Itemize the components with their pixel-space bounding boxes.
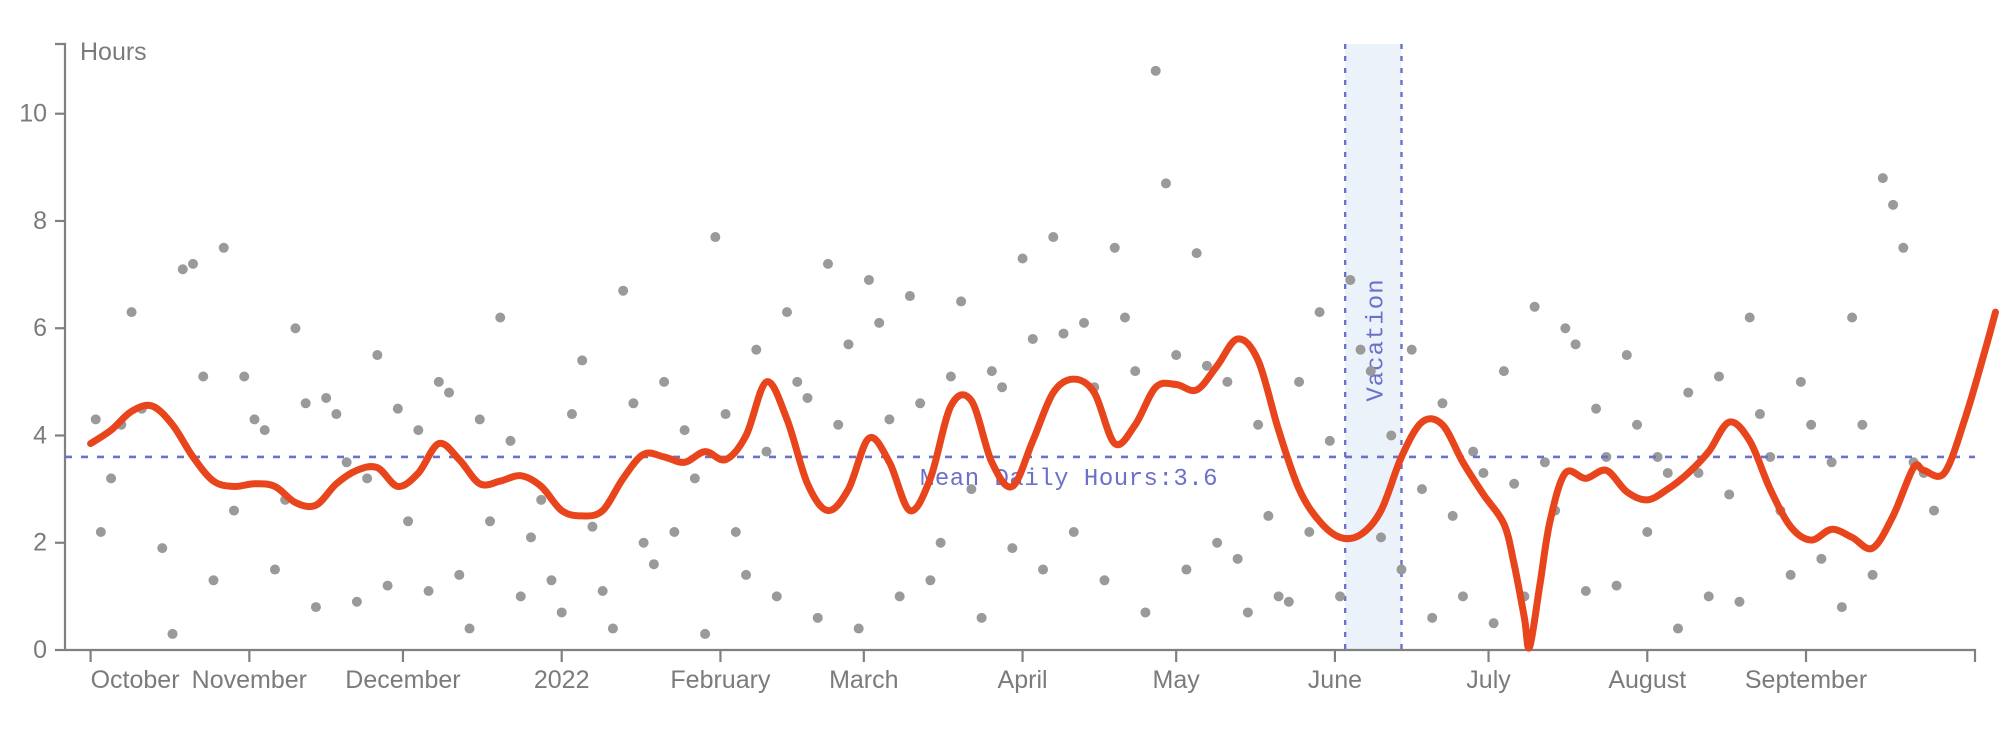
scatter-point (854, 624, 864, 634)
x-tick-label: February (670, 666, 771, 694)
scatter-point (1376, 532, 1386, 542)
scatter-point (1468, 447, 1478, 457)
scatter-point (1366, 366, 1376, 376)
scatter-point (843, 339, 853, 349)
scatter-point (802, 393, 812, 403)
scatter-point (1048, 232, 1058, 242)
scatter-point (1304, 527, 1314, 537)
scatter-point (1253, 420, 1263, 430)
x-tick-label: December (345, 666, 460, 694)
scatter-point (372, 350, 382, 360)
scatter-point (823, 259, 833, 269)
scatter-point (383, 581, 393, 591)
scatter-point (1427, 613, 1437, 623)
scatter-point (1560, 323, 1570, 333)
scatter-point (1110, 243, 1120, 253)
scatter-point (1888, 200, 1898, 210)
mean-line-label: Mean Daily Hours:3.6 (920, 466, 1218, 493)
x-tick-label: 2022 (534, 666, 590, 694)
scatter-point (495, 313, 505, 323)
scatter-point (311, 602, 321, 612)
scatter-point (1212, 538, 1222, 548)
scatter-point (1755, 409, 1765, 419)
scatter-point (628, 398, 638, 408)
scatter-point (454, 570, 464, 580)
scatter-point (1263, 511, 1273, 521)
scatter-point (536, 495, 546, 505)
scatter-point (997, 382, 1007, 392)
scatter-point (925, 575, 935, 585)
scatter-point (1714, 371, 1724, 381)
scatter-point (239, 371, 249, 381)
scatter-point (557, 607, 567, 617)
scatter-point (977, 613, 987, 623)
scatter-point (127, 307, 137, 317)
x-tick-label: April (998, 666, 1048, 694)
scatter-point (680, 425, 690, 435)
scatter-point (208, 575, 218, 585)
scatter-point (1929, 506, 1939, 516)
scatter-point (1335, 591, 1345, 601)
x-axis-line (65, 650, 1975, 662)
scatter-point (1386, 430, 1396, 440)
scatter-point (1591, 404, 1601, 414)
scatter-point (188, 259, 198, 269)
scatter-point (96, 527, 106, 537)
chart-container: Vacation 0246810 Hours OctoberNovemberDe… (0, 0, 2008, 731)
scatter-point (475, 414, 485, 424)
scatter-point (1038, 565, 1048, 575)
scatter-point (1233, 554, 1243, 564)
scatter-point (1284, 597, 1294, 607)
scatter-point (526, 532, 536, 542)
scatter-point (1192, 248, 1202, 258)
scatter-point (1274, 591, 1284, 601)
scatter-point (1837, 602, 1847, 612)
scatter-point (157, 543, 167, 553)
scatter-point (1161, 178, 1171, 188)
scatter-point (731, 527, 741, 537)
scatter-point (567, 409, 577, 419)
scatter-point (1069, 527, 1079, 537)
scatter-point (546, 575, 556, 585)
scatter-point (1683, 388, 1693, 398)
scatter-point (1499, 366, 1509, 376)
scatter-points (91, 66, 1939, 639)
y-axis-line (55, 44, 65, 650)
scatter-point (936, 538, 946, 548)
scatter-point (874, 318, 884, 328)
scatter-point (741, 570, 751, 580)
scatter-point (178, 264, 188, 274)
vacation-band: Vacation (1345, 44, 1401, 650)
scatter-point (1181, 565, 1191, 575)
scatter-point (618, 286, 628, 296)
scatter-point (1540, 457, 1550, 467)
scatter-point (249, 414, 259, 424)
scatter-point (833, 420, 843, 430)
scatter-point (1581, 586, 1591, 596)
x-tick-label: May (1153, 666, 1201, 694)
scatter-point (690, 473, 700, 483)
scatter-point (331, 409, 341, 419)
scatter-point (1294, 377, 1304, 387)
scatter-point (700, 629, 710, 639)
scatter-point (393, 404, 403, 414)
scatter-point (219, 243, 229, 253)
scatter-point (1509, 479, 1519, 489)
scatter-point (710, 232, 720, 242)
scatter-point (1642, 527, 1652, 537)
y-tick-label: 4 (33, 421, 47, 449)
x-axis: OctoberNovemberDecember2022FebruaryMarch… (65, 650, 1975, 694)
scatter-point (1417, 484, 1427, 494)
scatter-point (1059, 329, 1069, 339)
scatter-point (1315, 307, 1325, 317)
scatter-point (1099, 575, 1109, 585)
scatter-point (1028, 334, 1038, 344)
scatter-point (444, 388, 454, 398)
scatter-point (659, 377, 669, 387)
scatter-point (106, 473, 116, 483)
y-axis-title: Hours (80, 38, 147, 66)
scatter-point (946, 371, 956, 381)
scatter-point (1868, 570, 1878, 580)
scatter-point (1704, 591, 1714, 601)
scatter-point (1345, 275, 1355, 285)
scatter-point (362, 473, 372, 483)
x-tick-label: June (1308, 666, 1362, 694)
scatter-point (1806, 420, 1816, 430)
scatter-point (1079, 318, 1089, 328)
scatter-point (229, 506, 239, 516)
scatter-point (1325, 436, 1335, 446)
scatter-point (1827, 457, 1837, 467)
scatter-point (1489, 618, 1499, 628)
scatter-point (762, 447, 772, 457)
y-tick-group: 0246810 (19, 100, 65, 664)
scatter-point (1724, 489, 1734, 499)
scatter-point (1857, 420, 1867, 430)
scatter-point (782, 307, 792, 317)
scatter-point (813, 613, 823, 623)
scatter-point (895, 591, 905, 601)
scatter-point (342, 457, 352, 467)
scatter-point (1745, 313, 1755, 323)
scatter-point (1222, 377, 1232, 387)
scatter-point (577, 355, 587, 365)
scatter-point (1612, 581, 1622, 591)
scatter-point (1007, 543, 1017, 553)
scatter-point (1663, 468, 1673, 478)
scatter-point (1796, 377, 1806, 387)
scatter-point (1622, 350, 1632, 360)
scatter-point (516, 591, 526, 601)
scatter-point (751, 345, 761, 355)
scatter-point (1140, 607, 1150, 617)
scatter-point (1396, 565, 1406, 575)
scatter-point (884, 414, 894, 424)
scatter-point (1130, 366, 1140, 376)
scatter-point (1734, 597, 1744, 607)
scatter-point (505, 436, 515, 446)
scatter-point (1878, 173, 1888, 183)
y-tick-label: 8 (33, 207, 47, 235)
scatter-point (270, 565, 280, 575)
scatter-point (1673, 624, 1683, 634)
x-tick-label: October (91, 666, 180, 694)
scatter-point (792, 377, 802, 387)
scatter-point (1018, 254, 1028, 264)
scatter-point (669, 527, 679, 537)
scatter-point (987, 366, 997, 376)
scatter-point (168, 629, 178, 639)
scatter-point (413, 425, 423, 435)
scatter-point (587, 522, 597, 532)
scatter-point (1571, 339, 1581, 349)
scatter-point (864, 275, 874, 285)
scatter-point (260, 425, 270, 435)
scatter-point (1898, 243, 1908, 253)
y-tick-label: 10 (19, 100, 47, 128)
x-tick-label: August (1608, 666, 1686, 694)
x-tick-label: July (1466, 666, 1511, 694)
scatter-point (434, 377, 444, 387)
y-tick-label: 0 (33, 636, 47, 664)
scatter-point (1120, 313, 1130, 323)
scatter-point (1458, 591, 1468, 601)
x-tick-label: November (192, 666, 307, 694)
scatter-point (772, 591, 782, 601)
scatter-point (649, 559, 659, 569)
scatter-point (1632, 420, 1642, 430)
scatter-point (290, 323, 300, 333)
scatter-point (905, 291, 915, 301)
scatter-point (1448, 511, 1458, 521)
hours-scatter-chart: Vacation 0246810 Hours OctoberNovemberDe… (0, 0, 2008, 731)
scatter-point (321, 393, 331, 403)
y-tick-label: 6 (33, 314, 47, 342)
scatter-point (1243, 607, 1253, 617)
scatter-point (1356, 345, 1366, 355)
scatter-point (198, 371, 208, 381)
scatter-point (915, 398, 925, 408)
scatter-point (403, 516, 413, 526)
y-axis: 0246810 Hours (19, 38, 147, 664)
x-tick-group: OctoberNovemberDecember2022FebruaryMarch… (91, 650, 1868, 694)
scatter-point (1478, 468, 1488, 478)
scatter-point (608, 624, 618, 634)
scatter-point (1530, 302, 1540, 312)
scatter-point (1151, 66, 1161, 76)
scatter-point (956, 296, 966, 306)
y-tick-label: 2 (33, 529, 47, 557)
scatter-point (91, 414, 101, 424)
scatter-point (1847, 313, 1857, 323)
scatter-point (598, 586, 608, 596)
scatter-point (301, 398, 311, 408)
scatter-point (1816, 554, 1826, 564)
scatter-point (424, 586, 434, 596)
x-tick-label: September (1745, 666, 1867, 694)
x-tick-label: March (829, 666, 898, 694)
scatter-point (1437, 398, 1447, 408)
scatter-point (1786, 570, 1796, 580)
scatter-point (639, 538, 649, 548)
scatter-point (1407, 345, 1417, 355)
scatter-point (465, 624, 475, 634)
scatter-point (721, 409, 731, 419)
scatter-point (1171, 350, 1181, 360)
scatter-point (352, 597, 362, 607)
scatter-point (485, 516, 495, 526)
vacation-band-label: Vacation (1363, 278, 1390, 401)
